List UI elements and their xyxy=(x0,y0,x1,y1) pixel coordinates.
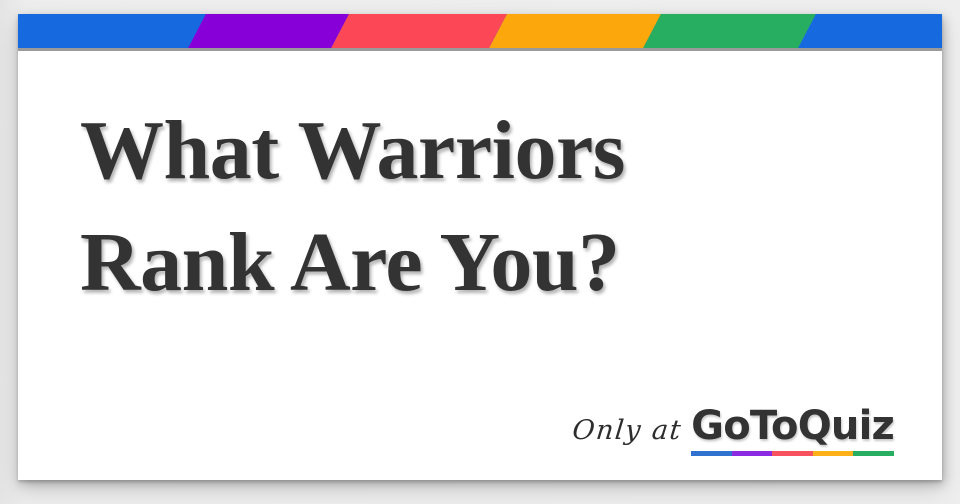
page-title: What Warriors Rank Are You? xyxy=(80,95,780,318)
brand-underline-segment-4 xyxy=(813,451,854,456)
rainbow-stripe-band xyxy=(18,14,942,48)
brand-underline-segment-2 xyxy=(732,451,773,456)
stripe-green xyxy=(641,14,818,48)
stripe-blue xyxy=(18,14,208,48)
quiz-title-card: What Warriors Rank Are You? Only at GoTo… xyxy=(18,14,942,480)
brand-name-text: GoToQuiz xyxy=(691,406,894,446)
brand-underline-stripes xyxy=(691,451,894,456)
stripe-orange xyxy=(487,14,663,48)
brand-attribution[interactable]: Only at GoToQuiz xyxy=(572,406,894,456)
stripe-blue-2 xyxy=(796,14,942,48)
brand-underline-segment-3 xyxy=(772,451,813,456)
brand-underline-segment-5 xyxy=(853,451,894,456)
brand-logo[interactable]: GoToQuiz xyxy=(691,406,894,456)
brand-prefix-text: Only at xyxy=(570,415,684,456)
brand-underline-segment-1 xyxy=(691,451,732,456)
stripe-red xyxy=(329,14,509,48)
headline-container: What Warriors Rank Are You? xyxy=(18,51,942,318)
